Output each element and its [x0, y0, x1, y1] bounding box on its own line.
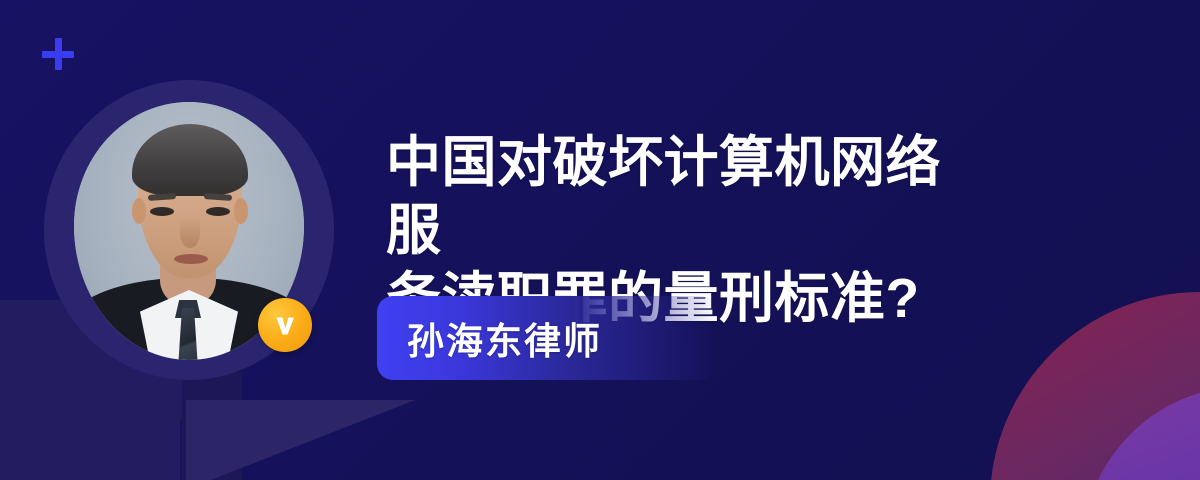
lawyer-question-banner: 中国对破坏计算机网络服 务渎职罪的量刑标准? 孙海东律师 — [0, 0, 1200, 480]
decor-circle-inner — [1082, 386, 1200, 480]
portrait-ear-right — [234, 198, 248, 224]
portrait-eye-left — [150, 207, 174, 216]
decor-triangle-shape — [186, 400, 416, 480]
lawyer-name-badge: 孙海东律师 — [377, 296, 717, 380]
portrait-ear-left — [132, 198, 146, 224]
portrait-nose — [180, 218, 200, 248]
verified-check-icon — [258, 298, 312, 352]
lawyer-name-label: 孙海东律师 — [407, 311, 602, 365]
avatar — [44, 80, 334, 390]
plus-icon — [42, 38, 74, 70]
portrait-mouth — [174, 254, 208, 264]
portrait-eye-right — [206, 207, 230, 216]
content-column: 中国对破坏计算机网络服 务渎职罪的量刑标准? 孙海东律师 — [386, 0, 1086, 480]
